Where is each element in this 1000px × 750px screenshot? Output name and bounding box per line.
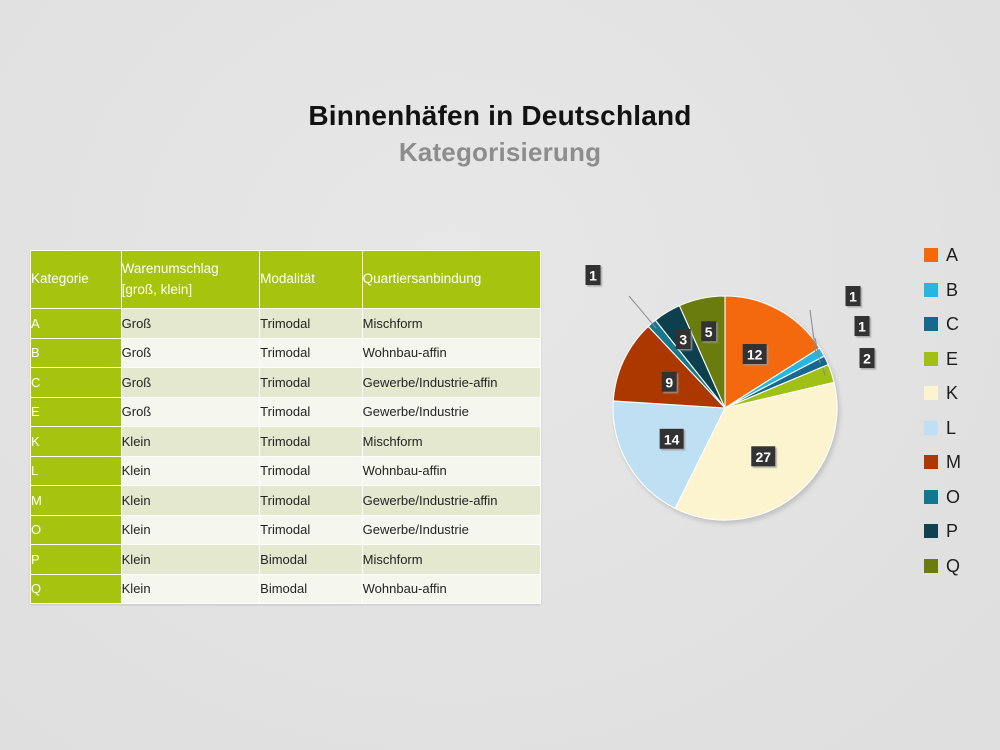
- pie-data-label-text: 14: [664, 431, 680, 447]
- table-row: AGroßTrimodalMischform: [31, 309, 540, 338]
- legend-item-a[interactable]: A: [924, 238, 994, 273]
- legend-swatch-icon: [924, 559, 938, 573]
- cell-warenumschlag: Groß: [122, 398, 260, 427]
- column-header-kategorie: Kategorie: [31, 251, 121, 308]
- cell-kategorie-text: O: [31, 522, 41, 537]
- pie-chart-svg: 1211227149135: [555, 238, 905, 588]
- pie-data-label-m: 9: [662, 372, 677, 392]
- pie-data-label-text: 27: [755, 449, 771, 465]
- cell-kategorie-text: A: [31, 316, 40, 331]
- cell-kategorie: L: [31, 457, 121, 486]
- cell-warenumschlag: Klein: [122, 427, 260, 456]
- legend-swatch-icon: [924, 421, 938, 435]
- cell-warenumschlag-text: Klein: [122, 434, 151, 449]
- legend-item-o[interactable]: O: [924, 480, 994, 515]
- pie-data-label-text: 1: [858, 319, 866, 335]
- column-header-modalitaet: Modalität: [260, 251, 361, 308]
- category-table: Kategorie Warenumschlag [groß, klein] Mo…: [30, 250, 541, 604]
- cell-quartiersanbindung: Wohnbau-affin: [363, 575, 540, 604]
- legend-item-b[interactable]: B: [924, 273, 994, 308]
- legend-item-l[interactable]: L: [924, 411, 994, 446]
- cell-modalitaet: Trimodal: [260, 457, 361, 486]
- cell-kategorie: A: [31, 309, 121, 338]
- cell-quartiersanbindung-text: Wohnbau-affin: [363, 463, 447, 478]
- cell-kategorie-text: P: [31, 552, 40, 567]
- cell-quartiersanbindung-text: Gewerbe/Industrie-affin: [363, 493, 498, 508]
- cell-modalitaet-text: Trimodal: [260, 375, 310, 390]
- table-row: LKleinTrimodalWohnbau-affin: [31, 457, 540, 486]
- cell-warenumschlag-text: Klein: [122, 522, 151, 537]
- cell-kategorie-text: K: [31, 434, 40, 449]
- column-header-warenumschlag-label: Warenumschlag: [122, 261, 219, 276]
- legend-swatch-icon: [924, 248, 938, 262]
- pie-data-label-e: 2: [860, 348, 875, 368]
- legend-swatch-icon: [924, 524, 938, 538]
- legend-label: Q: [946, 557, 960, 575]
- legend-swatch-icon: [924, 352, 938, 366]
- cell-warenumschlag-text: Groß: [122, 375, 152, 390]
- legend-swatch-icon: [924, 455, 938, 469]
- pie-data-label-text: 9: [665, 374, 673, 390]
- cell-quartiersanbindung-text: Wohnbau-affin: [363, 345, 447, 360]
- cell-kategorie: K: [31, 427, 121, 456]
- legend-label: C: [946, 315, 959, 333]
- pie-data-label-text: 1: [589, 268, 597, 284]
- column-header-modalitaet-label: Modalität: [260, 271, 315, 286]
- pie-chart: 1211227149135: [555, 238, 905, 588]
- pie-slices-group: [613, 296, 837, 520]
- cell-warenumschlag: Groß: [122, 339, 260, 368]
- cell-warenumschlag-text: Klein: [122, 463, 151, 478]
- table-row: CGroßTrimodalGewerbe/Industrie-affin: [31, 368, 540, 397]
- title-block: Binnenhäfen in Deutschland Kategorisieru…: [0, 100, 1000, 168]
- cell-warenumschlag-text: Klein: [122, 552, 151, 567]
- table-row: OKleinTrimodalGewerbe/Industrie: [31, 516, 540, 545]
- pie-data-label-text: 12: [747, 347, 763, 363]
- cell-modalitaet: Trimodal: [260, 339, 361, 368]
- table-row: KKleinTrimodalMischform: [31, 427, 540, 456]
- cell-quartiersanbindung-text: Gewerbe/Industrie: [363, 404, 469, 419]
- cell-modalitaet: Trimodal: [260, 368, 361, 397]
- cell-warenumschlag-text: Klein: [122, 493, 151, 508]
- cell-kategorie: B: [31, 339, 121, 368]
- pie-data-label-text: 1: [849, 289, 857, 305]
- cell-quartiersanbindung: Gewerbe/Industrie-affin: [363, 486, 540, 515]
- cell-warenumschlag: Klein: [122, 516, 260, 545]
- legend-label: K: [946, 384, 958, 402]
- cell-warenumschlag: Klein: [122, 545, 260, 574]
- table-row: EGroßTrimodalGewerbe/Industrie: [31, 398, 540, 427]
- cell-modalitaet-text: Trimodal: [260, 404, 310, 419]
- cell-kategorie: E: [31, 398, 121, 427]
- cell-quartiersanbindung-text: Mischform: [363, 434, 423, 449]
- cell-quartiersanbindung: Mischform: [363, 309, 540, 338]
- pie-leader-line-o: [629, 296, 656, 328]
- column-header-kategorie-label: Kategorie: [31, 271, 89, 286]
- cell-kategorie-text: B: [31, 345, 40, 360]
- cell-quartiersanbindung: Mischform: [363, 545, 540, 574]
- cell-warenumschlag: Klein: [122, 486, 260, 515]
- table-row: QKleinBimodalWohnbau-affin: [31, 575, 540, 604]
- cell-quartiersanbindung: Gewerbe/Industrie: [363, 398, 540, 427]
- legend-swatch-icon: [924, 386, 938, 400]
- cell-kategorie-text: Q: [31, 581, 41, 596]
- cell-modalitaet-text: Bimodal: [260, 552, 307, 567]
- cell-warenumschlag-text: Groß: [122, 404, 152, 419]
- cell-quartiersanbindung-text: Mischform: [363, 552, 423, 567]
- cell-quartiersanbindung: Wohnbau-affin: [363, 339, 540, 368]
- table-header: Kategorie Warenumschlag [groß, klein] Mo…: [31, 251, 540, 308]
- cell-warenumschlag-text: Groß: [122, 345, 152, 360]
- legend-item-q[interactable]: Q: [924, 549, 994, 584]
- cell-warenumschlag: Groß: [122, 309, 260, 338]
- cell-quartiersanbindung: Wohnbau-affin: [363, 457, 540, 486]
- cell-kategorie: M: [31, 486, 121, 515]
- legend-label: O: [946, 488, 960, 506]
- cell-modalitaet: Bimodal: [260, 545, 361, 574]
- chart-legend: ABCEKLMOPQ: [924, 238, 994, 583]
- cell-kategorie-text: E: [31, 404, 40, 419]
- legend-label: B: [946, 281, 958, 299]
- table-row: MKleinTrimodalGewerbe/Industrie-affin: [31, 486, 540, 515]
- cell-modalitaet: Trimodal: [260, 309, 361, 338]
- cell-warenumschlag: Klein: [122, 457, 260, 486]
- cell-kategorie-text: L: [31, 463, 38, 478]
- legend-item-c[interactable]: C: [924, 307, 994, 342]
- cell-warenumschlag: Klein: [122, 575, 260, 604]
- pie-data-label-p: 3: [676, 329, 691, 349]
- cell-modalitaet-text: Trimodal: [260, 493, 310, 508]
- table-row: BGroßTrimodalWohnbau-affin: [31, 339, 540, 368]
- pie-data-label-a: 12: [743, 344, 767, 364]
- legend-item-k[interactable]: K: [924, 376, 994, 411]
- cell-quartiersanbindung: Gewerbe/Industrie-affin: [363, 368, 540, 397]
- legend-label: E: [946, 350, 958, 368]
- cell-modalitaet: Trimodal: [260, 398, 361, 427]
- column-header-warenumschlag-sublabel: [groß, klein]: [122, 280, 260, 301]
- cell-kategorie: Q: [31, 575, 121, 604]
- cell-quartiersanbindung-text: Gewerbe/Industrie: [363, 522, 469, 537]
- cell-kategorie: O: [31, 516, 121, 545]
- cell-quartiersanbindung-text: Wohnbau-affin: [363, 581, 447, 596]
- cell-modalitaet: Bimodal: [260, 575, 361, 604]
- pie-data-label-k: 27: [751, 446, 775, 466]
- cell-modalitaet-text: Trimodal: [260, 463, 310, 478]
- column-header-warenumschlag: Warenumschlag [groß, klein]: [122, 251, 260, 308]
- legend-label: A: [946, 246, 958, 264]
- pie-data-label-text: 2: [863, 351, 871, 367]
- cell-kategorie: C: [31, 368, 121, 397]
- cell-modalitaet-text: Trimodal: [260, 345, 310, 360]
- legend-item-p[interactable]: P: [924, 514, 994, 549]
- table-header-row: Kategorie Warenumschlag [groß, klein] Mo…: [31, 251, 540, 308]
- pie-data-label-o: 1: [586, 265, 601, 285]
- cell-quartiersanbindung-text: Mischform: [363, 316, 423, 331]
- cell-warenumschlag-text: Klein: [122, 581, 151, 596]
- pie-data-label-l: 14: [660, 429, 684, 449]
- pie-data-label-b: 1: [846, 286, 861, 306]
- cell-quartiersanbindung-text: Gewerbe/Industrie-affin: [363, 375, 498, 390]
- pie-data-label-text: 5: [705, 324, 713, 340]
- page-subtitle: Kategorisierung: [0, 138, 1000, 168]
- cell-warenumschlag-text: Groß: [122, 316, 152, 331]
- cell-kategorie: P: [31, 545, 121, 574]
- table-row: PKleinBimodalMischform: [31, 545, 540, 574]
- cell-quartiersanbindung: Mischform: [363, 427, 540, 456]
- cell-modalitaet-text: Trimodal: [260, 316, 310, 331]
- cell-kategorie-text: M: [31, 493, 42, 508]
- pie-data-label-q: 5: [701, 321, 716, 341]
- column-header-quartiersanbindung: Quartiersanbindung: [363, 251, 540, 308]
- cell-modalitaet-text: Bimodal: [260, 581, 307, 596]
- legend-label: L: [946, 419, 956, 437]
- cell-quartiersanbindung: Gewerbe/Industrie: [363, 516, 540, 545]
- page-title: Binnenhäfen in Deutschland: [0, 100, 1000, 132]
- legend-swatch-icon: [924, 490, 938, 504]
- cell-modalitaet-text: Trimodal: [260, 434, 310, 449]
- legend-swatch-icon: [924, 317, 938, 331]
- column-header-quartiersanbindung-label: Quartiersanbindung: [363, 271, 482, 286]
- legend-label: P: [946, 522, 958, 540]
- cell-modalitaet: Trimodal: [260, 516, 361, 545]
- table-body: AGroßTrimodalMischformBGroßTrimodalWohnb…: [31, 309, 540, 603]
- cell-warenumschlag: Groß: [122, 368, 260, 397]
- cell-modalitaet: Trimodal: [260, 427, 361, 456]
- pie-data-label-text: 3: [679, 332, 687, 348]
- cell-modalitaet: Trimodal: [260, 486, 361, 515]
- cell-kategorie-text: C: [31, 375, 40, 390]
- legend-item-m[interactable]: M: [924, 445, 994, 480]
- legend-swatch-icon: [924, 283, 938, 297]
- legend-item-e[interactable]: E: [924, 342, 994, 377]
- legend-label: M: [946, 453, 961, 471]
- pie-data-label-c: 1: [855, 316, 870, 336]
- cell-modalitaet-text: Trimodal: [260, 522, 310, 537]
